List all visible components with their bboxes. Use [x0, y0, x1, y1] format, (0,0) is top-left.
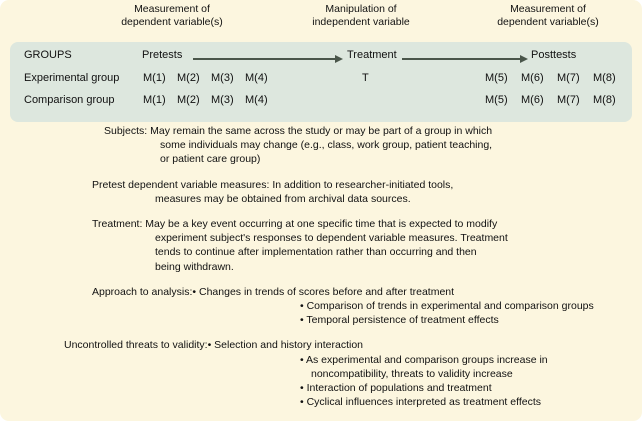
cell-experimental-pretest-3: M(3)	[211, 71, 234, 86]
cell-comparison-posttest-4: M(8)	[593, 93, 616, 108]
cell-comparison-posttest-3: M(7)	[557, 93, 580, 108]
notes-section: Subjects: May remain the same across the…	[0, 124, 642, 409]
column-header-pretest-measurement: Measurement of dependent variable(s)	[84, 3, 260, 29]
cell-experimental-treatment: T	[362, 71, 369, 86]
cell-experimental-pretest-4: M(4)	[245, 71, 268, 86]
cell-experimental-posttest-4: M(8)	[593, 71, 616, 86]
cell-experimental-posttest-2: M(6)	[521, 71, 544, 86]
note-threats-first-line: Uncontrolled threats to validity:• Selec…	[0, 338, 642, 352]
diagram-row-comparison-group: Comparison group M(1) M(2) M(3) M(4) M(5…	[10, 90, 632, 112]
note-treatment-line2: experiment subject's responses to depend…	[0, 231, 642, 245]
note-treatment-line3: tends to continue after implementation r…	[0, 245, 642, 259]
column-header-manipulation: Manipulation of independent variable	[276, 3, 446, 29]
row-label-comparison-group: Comparison group	[24, 93, 115, 108]
arrow-shaft	[402, 58, 521, 60]
cell-experimental-pretest-1: M(1)	[143, 71, 166, 86]
note-threats-bullet-2: • As experimental and comparison groups …	[0, 353, 642, 367]
note-treatment-line4: being withdrawn.	[0, 260, 642, 274]
arrow-head	[335, 55, 343, 63]
cell-comparison-posttest-1: M(5)	[485, 93, 508, 108]
arrow-head	[520, 55, 528, 63]
research-design-figure: Measurement of dependent variable(s) Man…	[0, 0, 642, 421]
column-header-posttest-measurement: Measurement of dependent variable(s)	[460, 3, 636, 29]
note-threats-bullet-2-cont: noncompatibility, threats to validity in…	[0, 367, 642, 381]
cell-comparison-pretest-4: M(4)	[245, 93, 268, 108]
note-pretest-measures: Pretest dependent variable measures: In …	[0, 178, 642, 206]
note-subjects-line1: Subjects: May remain the same across the…	[0, 124, 642, 138]
note-pretest-measures-line1: Pretest dependent variable measures: In …	[0, 178, 642, 192]
diagram-panel: GROUPS Pretests Treatment Posttests Expe…	[10, 42, 632, 122]
stage-label-treatment: Treatment	[347, 48, 397, 63]
cell-experimental-posttest-1: M(5)	[485, 71, 508, 86]
column-header-line2: dependent variable(s)	[460, 16, 636, 29]
note-subjects: Subjects: May remain the same across the…	[0, 124, 642, 167]
cell-comparison-pretest-2: M(2)	[177, 93, 200, 108]
note-subjects-line2: some individuals may change (e.g., class…	[0, 138, 642, 152]
arrow-treatment-to-posttests-icon	[402, 55, 528, 64]
cell-comparison-posttest-2: M(6)	[521, 93, 544, 108]
note-approach-first-line: Approach to analysis:• Changes in trends…	[0, 285, 642, 299]
diagram-row-experimental-group: Experimental group M(1) M(2) M(3) M(4) T…	[10, 68, 632, 90]
row-label-experimental-group: Experimental group	[24, 71, 119, 86]
cell-comparison-pretest-3: M(3)	[211, 93, 234, 108]
stage-label-pretests: Pretests	[142, 48, 182, 63]
note-treatment: Treatment: May be a key event occurring …	[0, 217, 642, 274]
note-threats-bullet-1: • Selection and history interaction	[208, 339, 363, 351]
diagram-header-row: GROUPS Pretests Treatment Posttests	[10, 45, 632, 67]
note-approach-bullet-2: • Comparison of trends in experimental a…	[0, 299, 642, 313]
note-threats-lead: Uncontrolled threats to validity:	[64, 339, 208, 351]
note-approach-bullet-1: • Changes in trends of scores before and…	[192, 286, 454, 298]
note-subjects-line3: or patient care group)	[0, 152, 642, 166]
arrow-shaft	[193, 58, 336, 60]
note-uncontrolled-threats: Uncontrolled threats to validity:• Selec…	[0, 338, 642, 409]
note-treatment-line1: Treatment: May be a key event occurring …	[0, 217, 642, 231]
note-approach-lead: Approach to analysis:	[92, 286, 192, 298]
arrow-pretests-to-treatment-icon	[193, 55, 343, 64]
note-threats-bullet-3: • Interaction of populations and treatme…	[0, 381, 642, 395]
column-header-line1: Measurement of	[460, 3, 636, 16]
column-header-line2: dependent variable(s)	[84, 16, 260, 29]
row-label-groups: GROUPS	[24, 48, 72, 63]
note-threats-bullet-4: • Cyclical influences interpreted as tre…	[0, 395, 642, 409]
note-approach-bullet-3: • Temporal persistence of treatment effe…	[0, 313, 642, 327]
column-headers: Measurement of dependent variable(s) Man…	[0, 3, 642, 39]
cell-experimental-pretest-2: M(2)	[177, 71, 200, 86]
column-header-line2: independent variable	[276, 16, 446, 29]
column-header-line1: Measurement of	[84, 3, 260, 16]
cell-experimental-posttest-3: M(7)	[557, 71, 580, 86]
cell-comparison-pretest-1: M(1)	[143, 93, 166, 108]
note-approach-to-analysis: Approach to analysis:• Changes in trends…	[0, 285, 642, 328]
note-pretest-measures-line2: measures may be obtained from archival d…	[0, 192, 642, 206]
column-header-line1: Manipulation of	[276, 3, 446, 16]
stage-label-posttests: Posttests	[531, 48, 576, 63]
